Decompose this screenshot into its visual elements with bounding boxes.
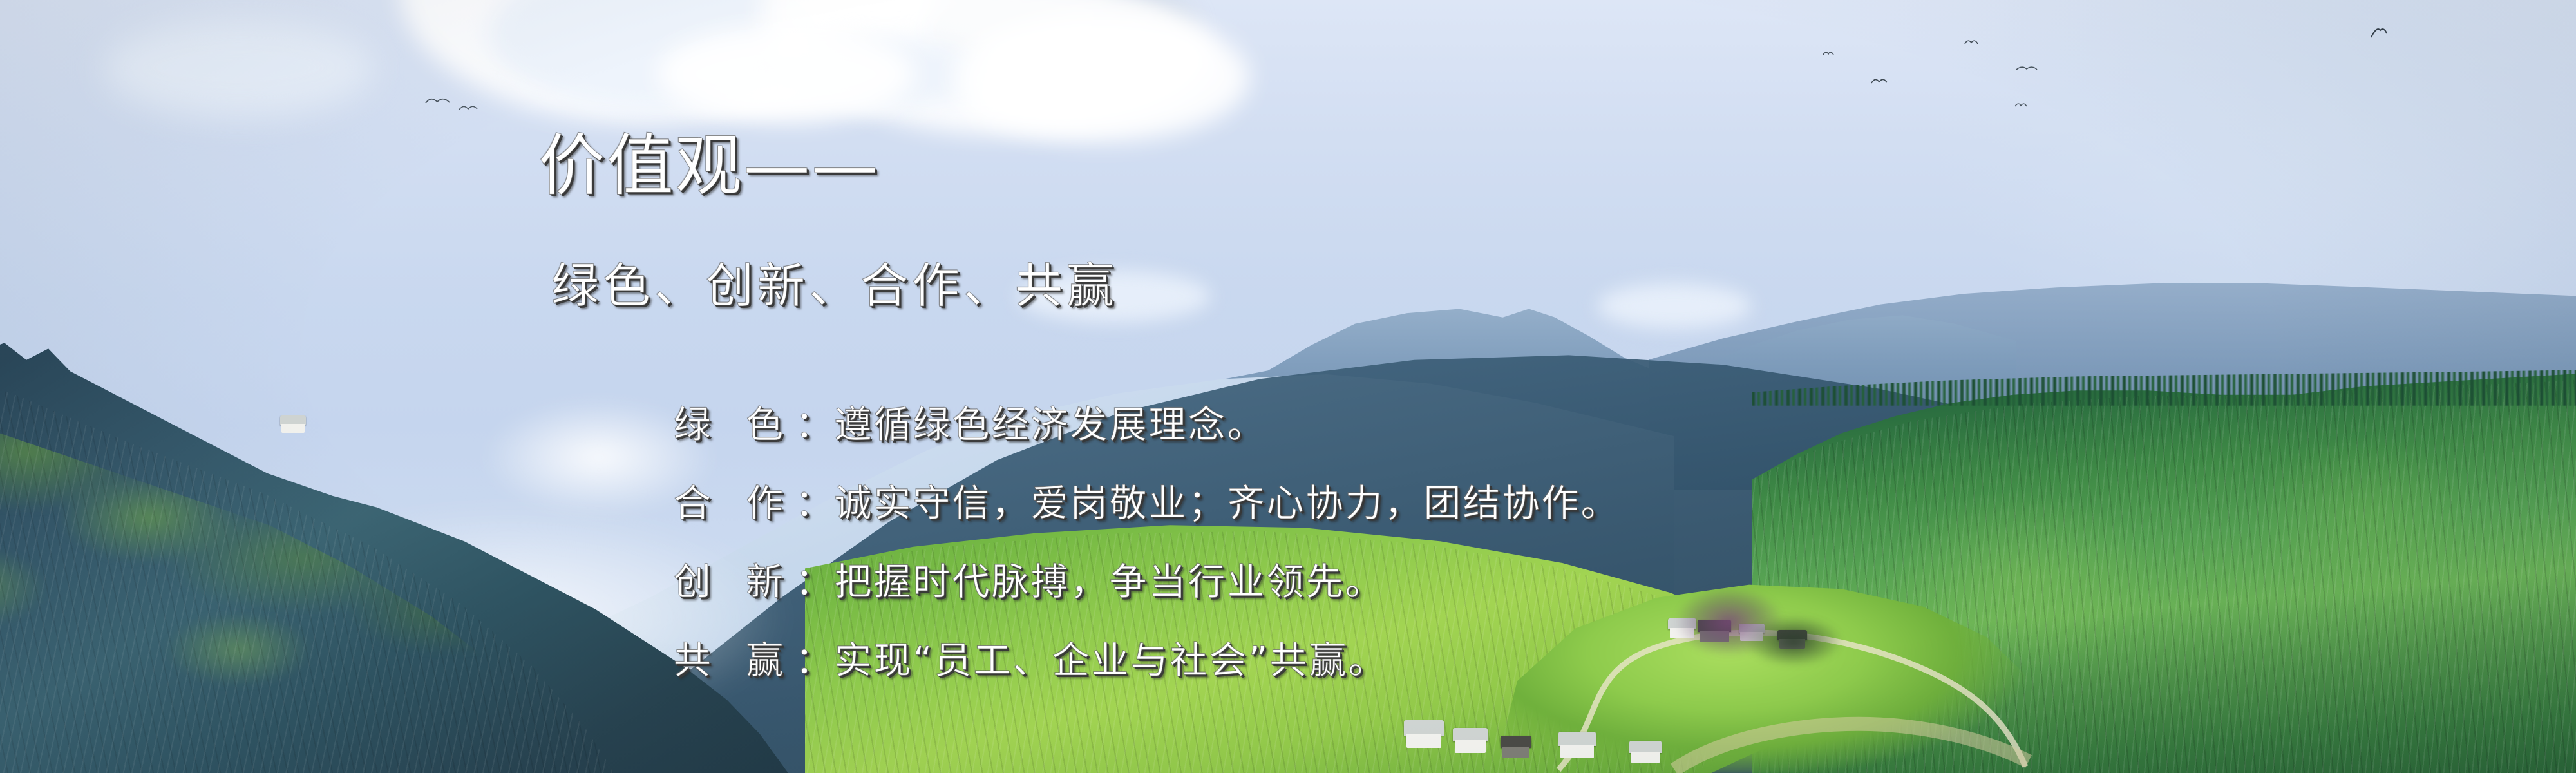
value-separator-green: ： (795, 403, 834, 446)
value-label-winwin: 共 赢 (674, 638, 795, 682)
slide-canvas: 价值观—— 绿色、创新、合作、共赢 绿 色：遵循绿色经济发展理念。 合 作：诚实… (0, 0, 2576, 773)
value-label-cooperation: 合 作 (674, 481, 795, 525)
value-separator-cooperation: ： (795, 481, 834, 525)
value-item-winwin: 共 赢：实现“员工、企业与社会”共赢。 (674, 621, 1620, 700)
value-label-innovation: 创 新 (674, 560, 795, 604)
text-layer: 价值观—— 绿色、创新、合作、共赢 绿 色：遵循绿色经济发展理念。 合 作：诚实… (0, 0, 2576, 773)
value-item-cooperation: 合 作：诚实守信，爱岗敬业；齐心协力，团结协作。 (674, 464, 1620, 542)
value-label-green: 绿 色 (674, 403, 795, 446)
value-text-winwin: 实现“员工、企业与社会”共赢。 (834, 638, 1387, 682)
value-text-innovation: 把握时代脉搏，争当行业领先。 (834, 560, 1384, 604)
page-title: 价值观—— (538, 126, 880, 205)
value-separator-innovation: ： (795, 560, 834, 604)
value-item-innovation: 创 新：把握时代脉搏，争当行业领先。 (674, 542, 1620, 621)
value-separator-winwin: ： (795, 638, 834, 682)
value-text-cooperation: 诚实守信，爱岗敬业；齐心协力，团结协作。 (834, 481, 1620, 525)
value-text-green: 遵循绿色经济发展理念。 (834, 403, 1266, 446)
value-list: 绿 色：遵循绿色经济发展理念。 合 作：诚实守信，爱岗敬业；齐心协力，团结协作。… (674, 385, 1620, 700)
page-subtitle: 绿色、创新、合作、共赢 (551, 258, 1118, 315)
value-item-green: 绿 色：遵循绿色经济发展理念。 (674, 385, 1620, 464)
